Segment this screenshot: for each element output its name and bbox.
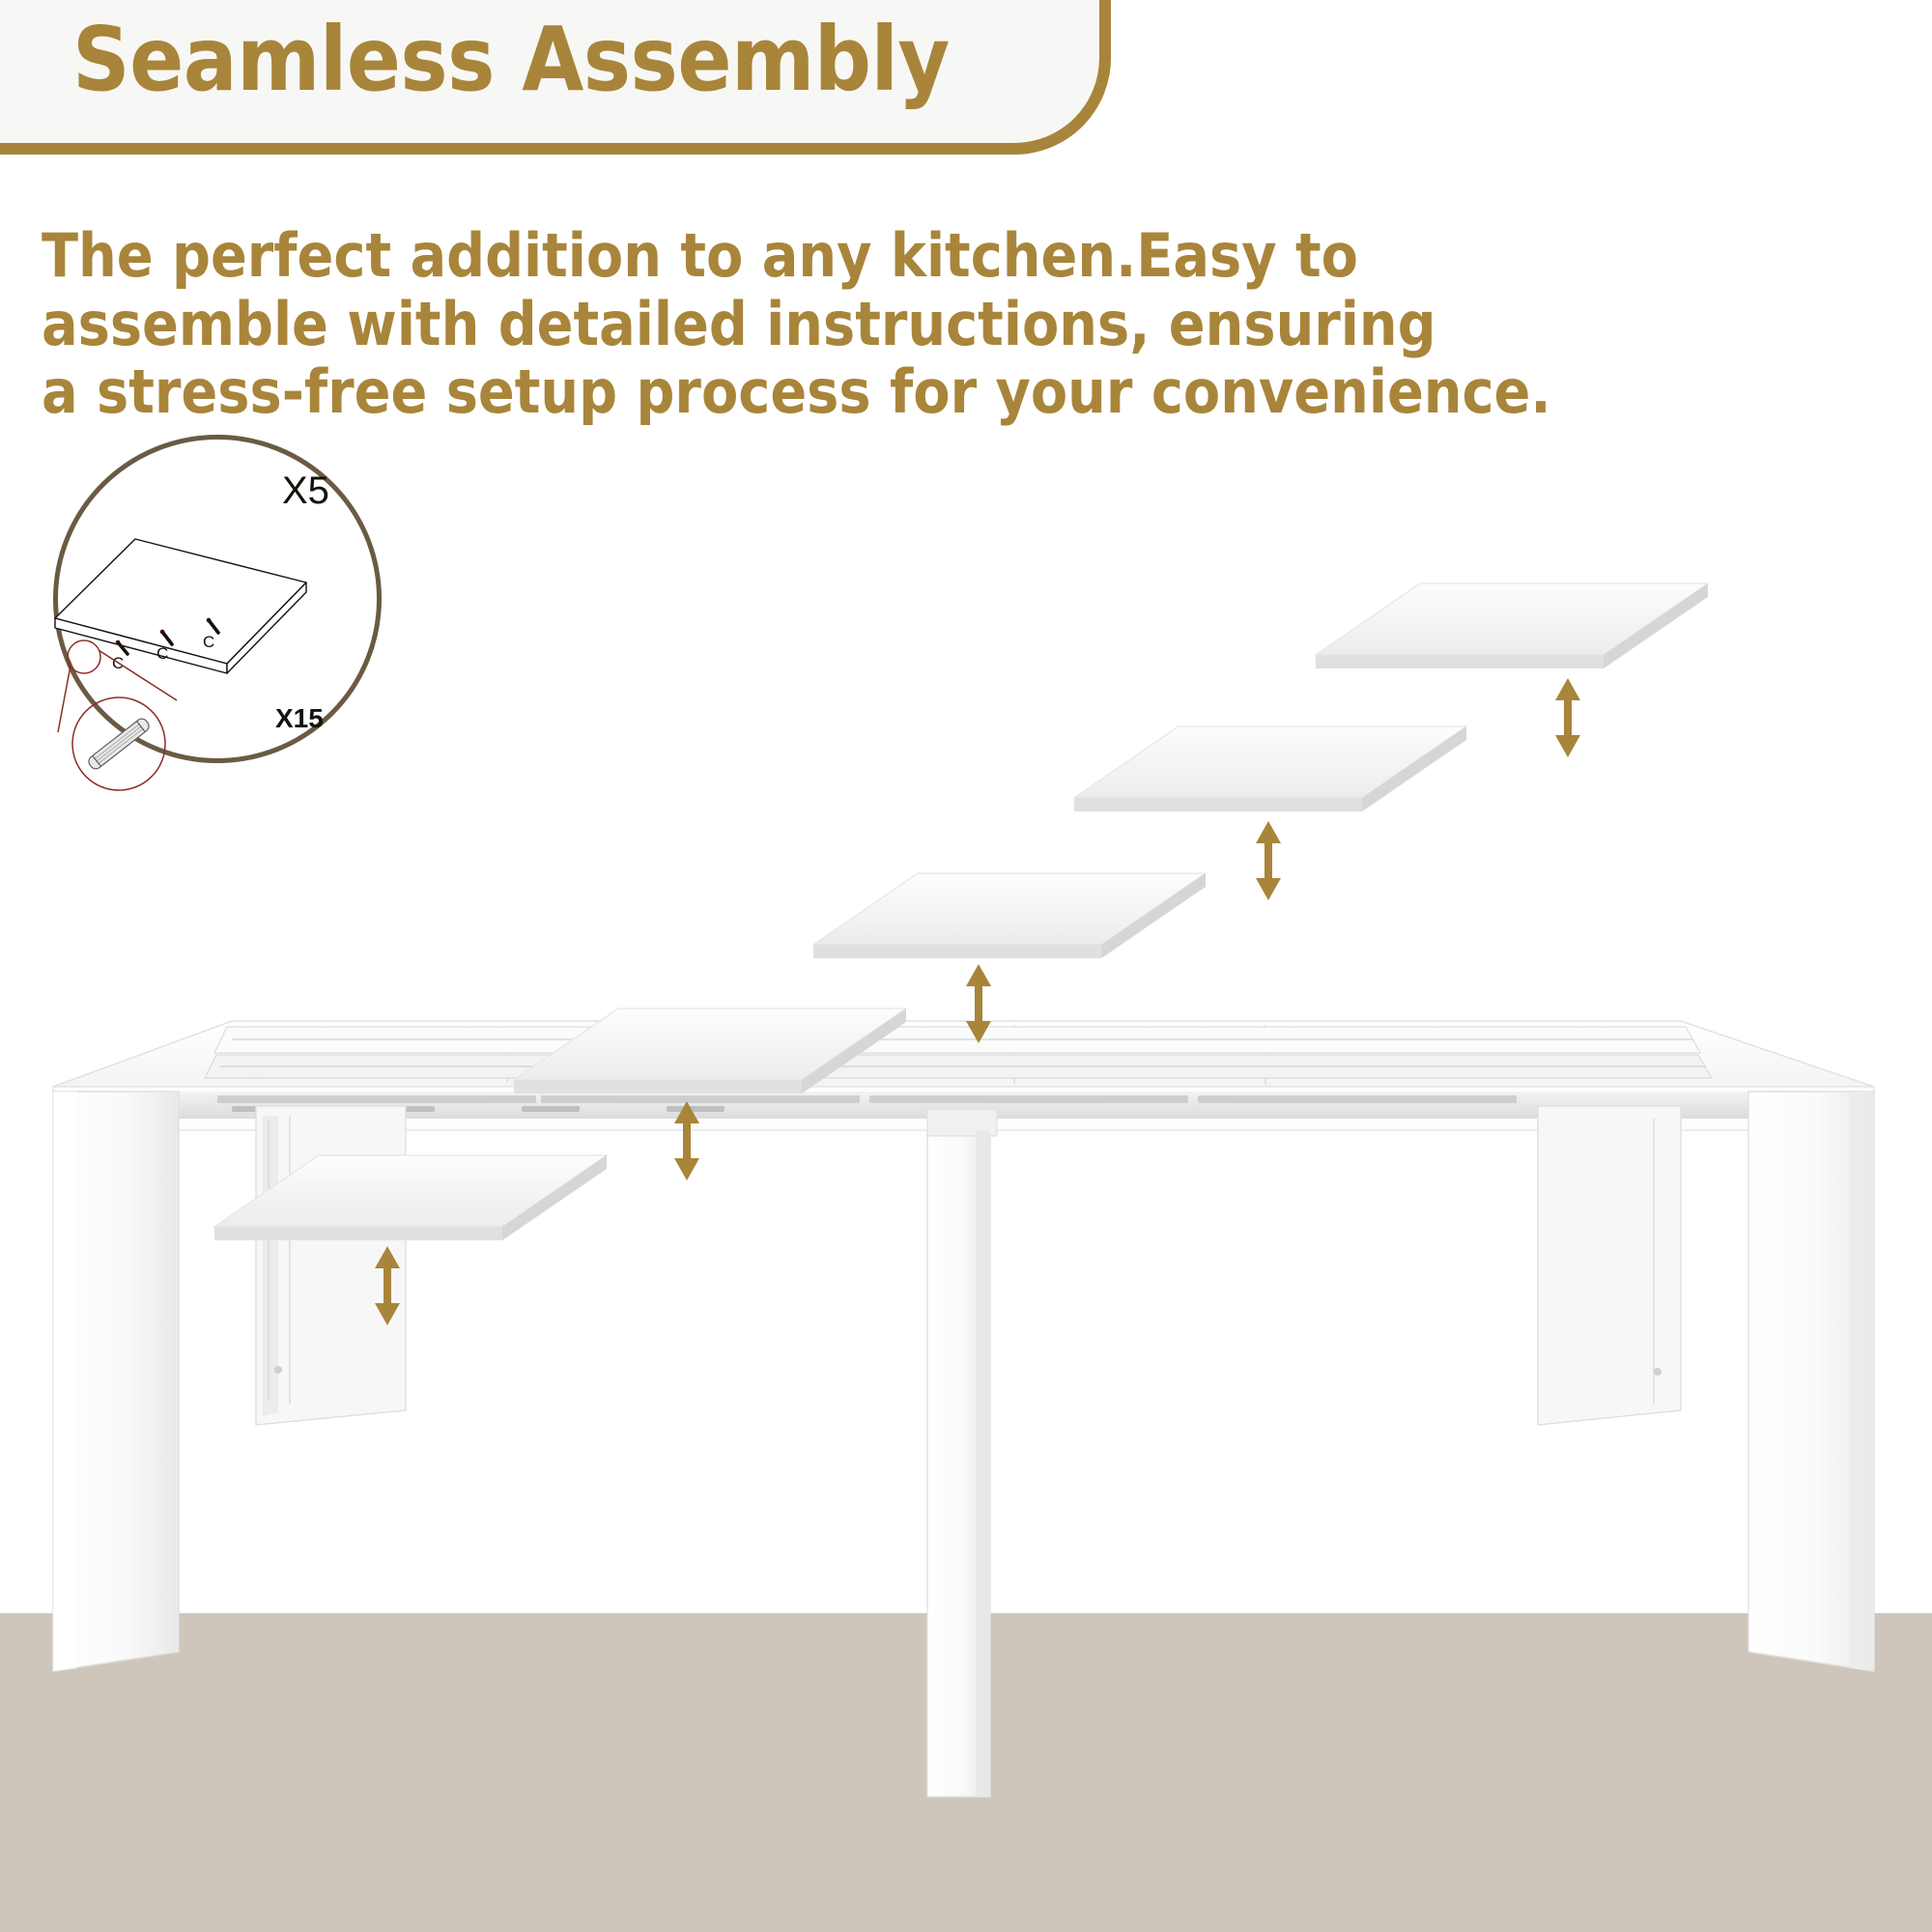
dowel-quantity-label: X15 — [275, 703, 324, 734]
insert-arrow-2 — [665, 1099, 709, 1187]
leaf-panel-line-drawing — [55, 539, 306, 673]
wooden-dowel-pin — [87, 717, 152, 772]
leaf-panel-3[interactable] — [810, 869, 1215, 976]
page-title: Seamless Assembly — [72, 8, 950, 111]
parts-callout-diagram: C C C — [39, 425, 406, 792]
svg-text:C: C — [156, 644, 168, 663]
insert-arrow-1 — [365, 1244, 410, 1332]
insert-arrow-4 — [1246, 819, 1291, 907]
part-quantity-label: X5 — [282, 469, 329, 513]
infographic-canvas: C C C — [0, 0, 1932, 1932]
subtitle-line-2: assemble with detailed instructions, ens… — [42, 291, 1297, 359]
table-leg-right — [1748, 1092, 1874, 1671]
subtitle-line-3: a stress-free setup process for your con… — [42, 358, 1297, 427]
insert-arrow-5 — [1546, 676, 1590, 764]
leaf-panel-1[interactable] — [211, 1151, 616, 1258]
table-leg-left — [53, 1092, 179, 1671]
subtitle-line-1: The perfect addition to any kitchen.Easy… — [42, 222, 1297, 291]
leaf-panel-5[interactable] — [1312, 580, 1718, 686]
dowel-magnifier — [58, 640, 177, 790]
extendable-dining-table — [0, 995, 1932, 1932]
table-support-right — [1538, 1106, 1681, 1425]
table-leg-center — [927, 1109, 997, 1797]
subtitle-block: The perfect addition to any kitchen.Easy… — [42, 222, 1297, 427]
insert-arrow-3 — [956, 962, 1001, 1050]
svg-text:C: C — [203, 633, 214, 651]
leaf-panel-4[interactable] — [1070, 723, 1476, 829]
leaf-panel-2[interactable] — [510, 1005, 916, 1111]
